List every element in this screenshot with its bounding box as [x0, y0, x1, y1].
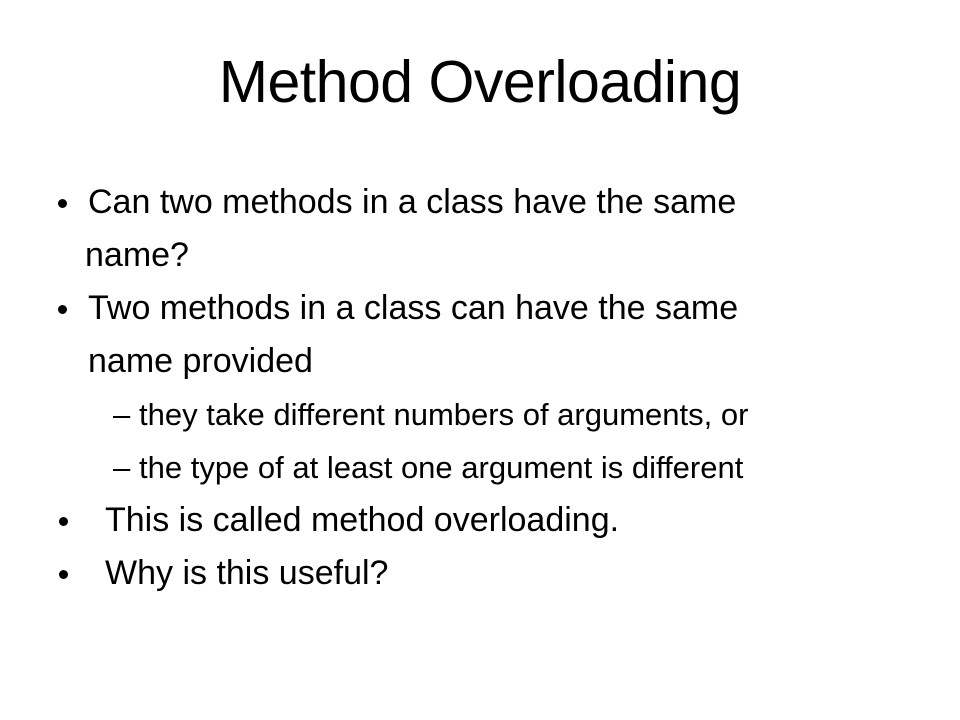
list-item-text: This is called method overloading.: [105, 501, 619, 539]
sub-list-item-text: they take different numbers of arguments…: [139, 397, 748, 432]
list-item-text: Can two methods in a class have the same: [88, 183, 736, 221]
list-item: Can two methods in a class have the same: [0, 176, 960, 229]
list-item: Why is this useful?: [0, 547, 960, 600]
bullet-icon: [59, 570, 68, 579]
sub-list-item: –they take different numbers of argument…: [0, 388, 960, 441]
dash-icon: –: [113, 441, 139, 494]
slide-canvas: Method Overloading Can two methods in a …: [0, 0, 960, 720]
page-title: Method Overloading: [0, 52, 960, 114]
sub-list-item: –the type of at least one argument is di…: [0, 441, 960, 494]
list-item: Two methods in a class can have the same: [0, 282, 960, 335]
list-item: This is called method overloading.: [0, 494, 960, 547]
list-item-text: name?: [85, 236, 189, 274]
list-item-text: name provided: [88, 342, 313, 380]
sub-list-item-text: the type of at least one argument is dif…: [139, 450, 743, 485]
bullet-list: Can two methods in a class have the same…: [0, 176, 960, 600]
list-item-text: Two methods in a class can have the same: [88, 289, 738, 327]
list-item-continuation: name?: [0, 229, 960, 282]
list-item-continuation: name provided: [0, 335, 960, 388]
bullet-icon: [58, 305, 67, 314]
bullet-icon: [58, 199, 67, 208]
bullet-icon: [59, 517, 68, 526]
dash-icon: –: [113, 388, 139, 441]
list-item-text: Why is this useful?: [105, 554, 388, 592]
